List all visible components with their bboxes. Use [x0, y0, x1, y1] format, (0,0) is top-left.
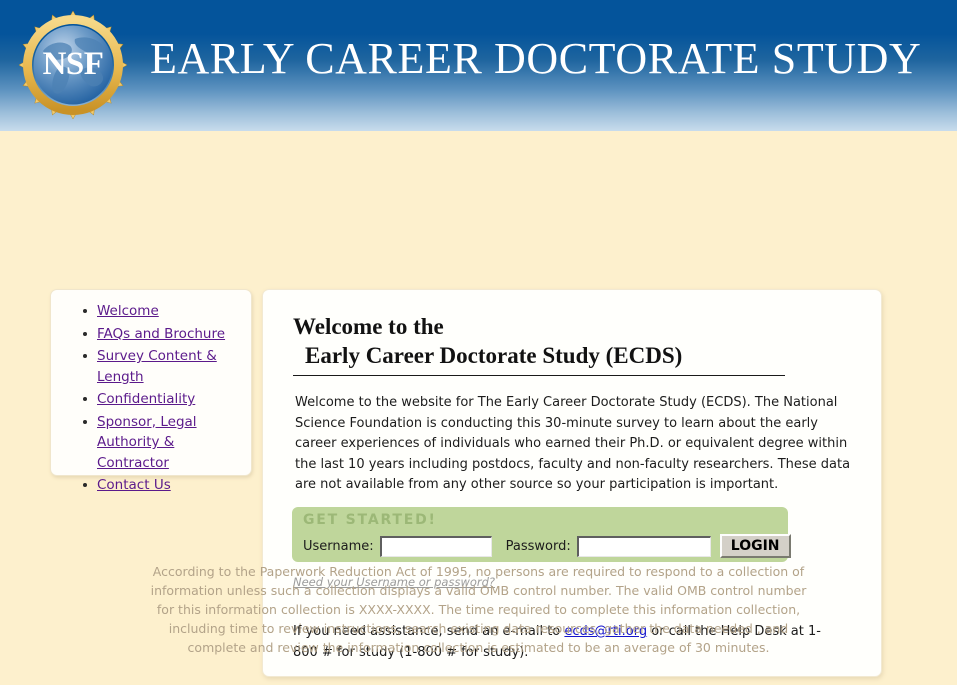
page-body: Welcome FAQs and Brochure Survey Content…: [0, 131, 957, 685]
sidebar-item-confidentiality[interactable]: Confidentiality: [51, 389, 251, 410]
login-form: Username: Password: LOGIN: [303, 534, 791, 558]
footer-line: information unless such a collection dis…: [0, 581, 957, 600]
sidebar-link-sponsor[interactable]: Sponsor, Legal Authority & Contractor: [97, 414, 197, 471]
get-started-panel: GET STARTED! Username: Password: LOGIN: [292, 507, 788, 562]
sidebar-item-survey-content[interactable]: Survey Content & Length: [51, 346, 251, 387]
username-label: Username:: [303, 539, 374, 554]
sidebar-link-survey-content[interactable]: Survey Content & Length: [97, 348, 217, 385]
welcome-heading: Welcome to the Early Career Doctorate St…: [293, 312, 785, 376]
sidebar-item-welcome[interactable]: Welcome: [51, 301, 251, 322]
sidebar-nav: Welcome FAQs and Brochure Survey Content…: [50, 289, 252, 476]
sidebar-item-faqs[interactable]: FAQs and Brochure: [51, 324, 251, 345]
get-started-title: GET STARTED!: [303, 512, 435, 528]
intro-paragraph: Welcome to the website for The Early Car…: [295, 393, 851, 496]
sidebar-link-faqs[interactable]: FAQs and Brochure: [97, 326, 225, 342]
sidebar-link-welcome[interactable]: Welcome: [97, 303, 159, 319]
footer-line: including time to review instructions, s…: [0, 619, 957, 638]
site-header: NSF EARLY CAREER DOCTORATE STUDY: [0, 0, 957, 131]
sidebar-list: Welcome FAQs and Brochure Survey Content…: [51, 290, 251, 496]
footer-line: for this information collection is XXXX-…: [0, 600, 957, 619]
omb-footer-notice: According to the Paperwork Reduction Act…: [0, 562, 957, 657]
welcome-heading-line2: Early Career Doctorate Study (ECDS): [293, 341, 785, 370]
sidebar-link-contact[interactable]: Contact Us: [97, 477, 171, 493]
username-input[interactable]: [380, 536, 492, 557]
sidebar-link-confidentiality[interactable]: Confidentiality: [97, 391, 195, 407]
footer-line: complete and review the information coll…: [0, 638, 957, 657]
password-label: Password:: [506, 539, 571, 554]
get-started-title-text: GET STARTED: [303, 512, 429, 528]
sidebar-item-sponsor[interactable]: Sponsor, Legal Authority & Contractor: [51, 412, 251, 474]
welcome-heading-line1: Welcome to the: [293, 314, 444, 339]
sidebar-item-contact[interactable]: Contact Us: [51, 475, 251, 496]
password-input[interactable]: [577, 536, 711, 557]
footer-line: According to the Paperwork Reduction Act…: [0, 562, 957, 581]
page-title: EARLY CAREER DOCTORATE STUDY: [150, 33, 921, 85]
nsf-globe-logo: NSF: [14, 9, 132, 122]
page-title-text: EARLY CAREER DOCTORATE STUDY: [150, 34, 921, 83]
svg-text:NSF: NSF: [43, 46, 104, 82]
login-button[interactable]: LOGIN: [720, 534, 791, 558]
get-started-title-bang: !: [429, 512, 435, 528]
